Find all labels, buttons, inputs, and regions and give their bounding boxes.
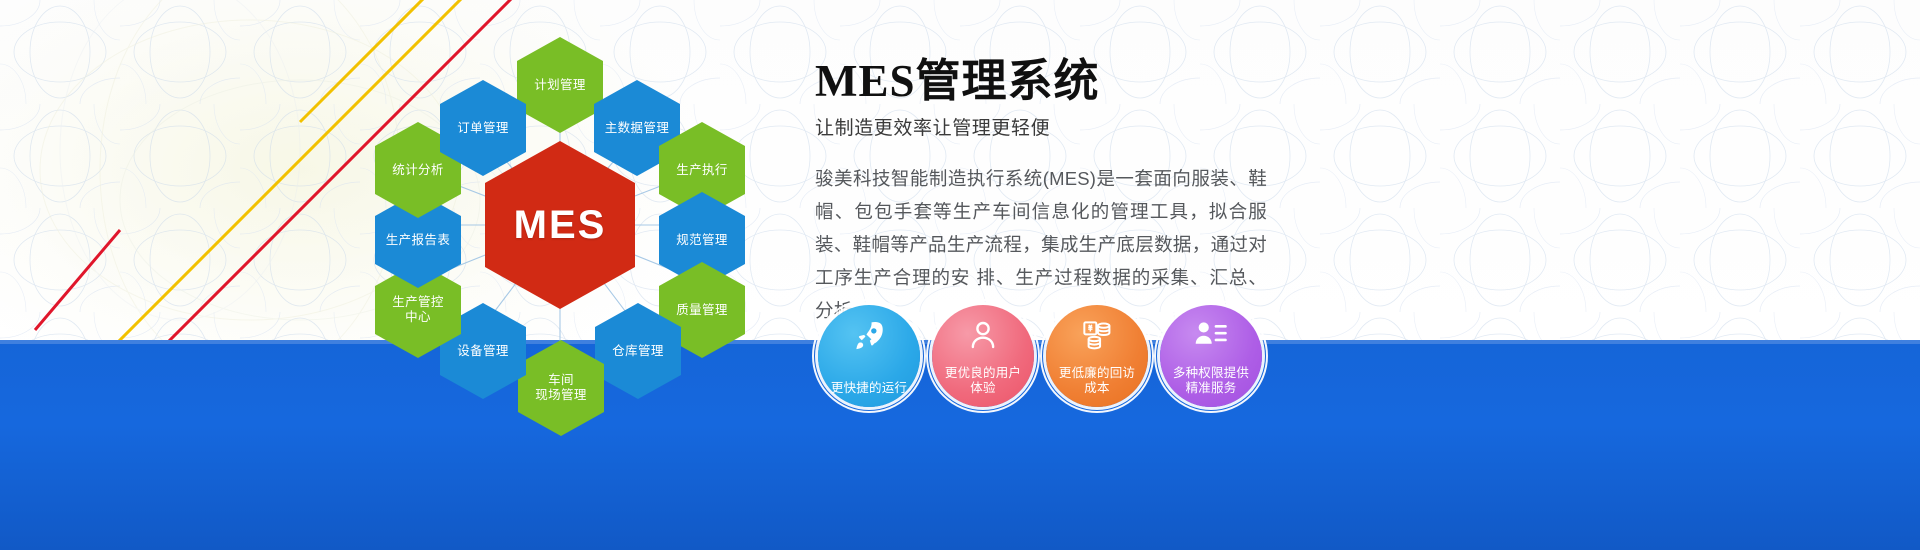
feature-badge-faster-operation[interactable]: 更快捷的运行 [818,305,920,407]
mes-hexagon-diagram: MES 计划管理 主数据管理 生产执行 规范管理 质量管理 仓库管理 车间 现场… [330,10,790,440]
badge-label: 更低廉的回访 成本 [1049,366,1145,396]
description-paragraph: 骏美科技智能制造执行系统(MES)是一套面向服装、鞋帽、包包手套等生产车间信息化… [815,162,1267,327]
diagram-node-label: 车间 现场管理 [529,373,593,403]
diagram-node-label: 生产执行 [670,163,734,178]
diagram-node-label: 质量管理 [670,303,734,318]
banner-root: MES 计划管理 主数据管理 生产执行 规范管理 质量管理 仓库管理 车间 现场… [0,0,1920,550]
diagram-node-label: 统计分析 [386,163,450,178]
diagram-node-label: 规范管理 [670,233,734,248]
diagram-node-label: 生产管控 中心 [386,295,450,325]
feature-badge-lower-cost[interactable]: 更低廉的回访 成本 [1046,305,1148,407]
diagram-node-label: 计划管理 [528,78,592,93]
diagram-node-label: 生产报告表 [380,233,457,248]
diagram-center-label: MES [508,218,613,233]
feature-badge-permissions[interactable]: 多种权限提供 精准服务 [1160,305,1262,407]
badge-label: 更快捷的运行 [821,381,917,396]
diagram-node-label: 主数据管理 [599,121,676,136]
badge-label: 更优良的用户 体验 [935,366,1031,396]
feature-badge-row: 更快捷的运行 更优良的用户 体验 [818,305,1262,407]
user-icon [932,319,1034,351]
diagram-node-label: 设备管理 [451,344,515,359]
page-title: MES管理系统 [815,55,1895,107]
badge-label: 多种权限提供 精准服务 [1163,366,1259,396]
rocket-icon [818,319,920,353]
page-subtitle: 让制造更效率让管理更轻便 [815,113,1895,140]
banner-text-block: MES管理系统 让制造更效率让管理更轻便 骏美科技智能制造执行系统(MES)是一… [815,55,1895,327]
user-list-icon [1160,319,1262,349]
money-stack-icon [1046,319,1148,351]
diagram-node-label: 仓库管理 [606,344,670,359]
feature-badge-better-experience[interactable]: 更优良的用户 体验 [932,305,1034,407]
diagram-node-label: 订单管理 [451,121,515,136]
